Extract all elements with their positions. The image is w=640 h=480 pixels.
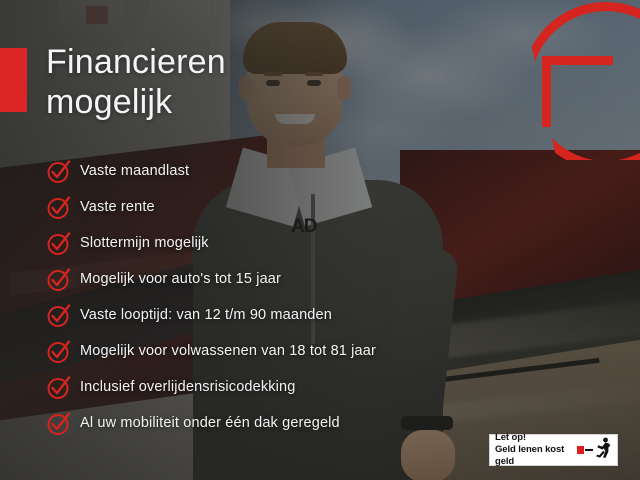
check-circle-icon	[46, 374, 72, 400]
list-item-label: Inclusief overlijdensrisicodekking	[80, 379, 295, 395]
list-item: Vaste maandlast	[46, 155, 466, 187]
check-circle-icon	[46, 158, 72, 184]
list-item-label: Al uw mobiliteit onder één dak geregeld	[80, 415, 340, 431]
red-accent-bar	[0, 48, 27, 112]
headline-line-1: Financieren	[46, 42, 226, 82]
warning-line-2: Geld lenen kost geld	[495, 444, 577, 468]
warning-badge-text: Let op! Geld lenen kost geld	[495, 432, 577, 468]
list-item: Inclusief overlijdensrisicodekking	[46, 371, 466, 403]
check-circle-icon	[46, 194, 72, 220]
warning-badge-icons	[577, 437, 612, 464]
check-circle-icon	[46, 338, 72, 364]
list-item: Mogelijk voor auto's tot 15 jaar	[46, 263, 466, 295]
check-circle-icon	[46, 302, 72, 328]
list-item-label: Vaste maandlast	[80, 163, 189, 179]
list-item: Slottermijn mogelijk	[46, 227, 466, 259]
list-item-label: Slottermijn mogelijk	[80, 235, 209, 251]
warning-line-1: Let op!	[495, 432, 577, 444]
walking-person-pulling-block-icon	[594, 437, 612, 464]
list-item: Vaste looptijd: van 12 t/m 90 maanden	[46, 299, 466, 331]
promo-banner: AD Financieren mogelijk Vaste maandlast	[0, 0, 640, 480]
red-block-icon	[577, 446, 584, 454]
page-title: Financieren mogelijk	[46, 42, 226, 123]
list-item-label: Vaste rente	[80, 199, 155, 215]
warning-badge: Let op! Geld lenen kost geld	[489, 434, 618, 466]
check-circle-icon	[46, 410, 72, 436]
check-circle-icon	[46, 230, 72, 256]
feature-list: Vaste maandlast Vaste rente Slottermijn …	[46, 155, 466, 443]
list-item-label: Vaste looptijd: van 12 t/m 90 maanden	[80, 307, 332, 323]
rope-icon	[585, 449, 593, 451]
check-circle-icon	[46, 266, 72, 292]
list-item-label: Mogelijk voor volwassenen van 18 tot 81 …	[80, 343, 376, 359]
list-item-label: Mogelijk voor auto's tot 15 jaar	[80, 271, 281, 287]
list-item: Al uw mobiliteit onder één dak geregeld	[46, 407, 466, 439]
list-item: Vaste rente	[46, 191, 466, 223]
list-item: Mogelijk voor volwassenen van 18 tot 81 …	[46, 335, 466, 367]
headline-line-2: mogelijk	[46, 82, 226, 122]
